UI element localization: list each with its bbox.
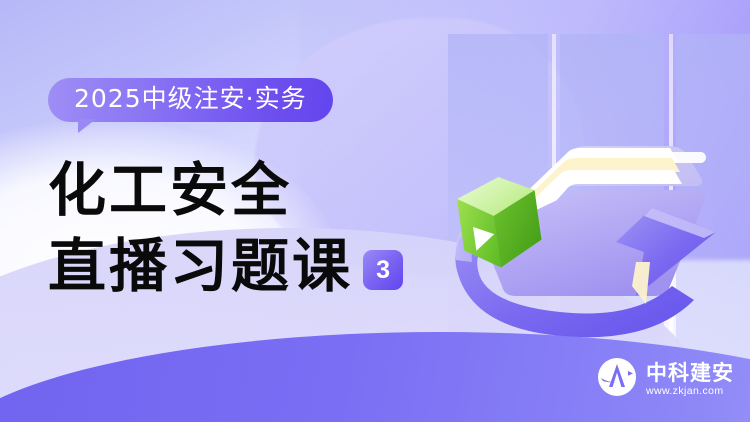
brand-logo-text: 中科建安 www.zkjan.com: [646, 362, 734, 396]
badge-tail-icon: [78, 119, 96, 133]
course-title-line-2-text: 直播习题课: [48, 234, 353, 298]
brand-url: www.zkjan.com: [646, 386, 734, 397]
brand-logo: 中科建安 www.zkjan.com: [597, 357, 734, 402]
course-promo-banner: 2025中级注安·实务 化工安全 直播习题课 3 中科建安: [0, 0, 750, 422]
course-category-badge-label: 2025中级注安·实务: [48, 78, 333, 122]
brand-name: 中科建安: [646, 362, 734, 384]
course-title-line-2: 直播习题课 3: [48, 234, 403, 298]
episode-number-badge: 3: [363, 250, 403, 290]
course-category-badge: 2025中级注安·实务: [48, 78, 333, 122]
zkjan-circle-a-logo-icon: [597, 357, 637, 402]
banner-text-content: 2025中级注安·实务 化工安全 直播习题课 3: [0, 0, 470, 422]
course-title-line-1-text: 化工安全: [48, 156, 292, 224]
course-title-block: 化工安全 直播习题课 3: [48, 158, 403, 298]
course-title-line-1: 化工安全: [48, 158, 403, 222]
